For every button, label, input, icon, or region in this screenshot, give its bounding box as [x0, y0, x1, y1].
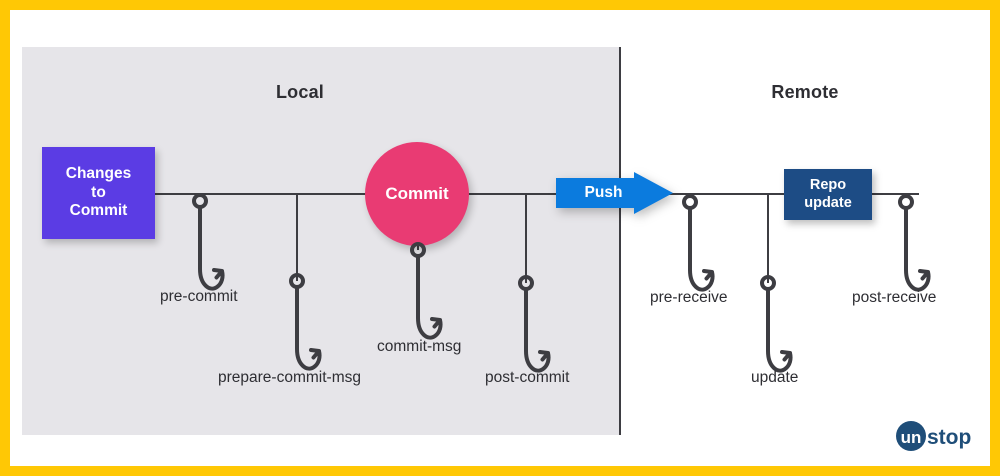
connector-prepare-commit-msg — [296, 193, 298, 281]
hook-label-pre-receive: pre-receive — [650, 289, 728, 307]
section-title-remote: Remote — [620, 82, 990, 103]
hook-label-post-commit: post-commit — [485, 369, 569, 387]
changes-to-commit-box[interactable]: Changes to Commit — [42, 147, 155, 239]
section-title-local: Local — [0, 82, 600, 103]
changes-label-line-2: to — [66, 184, 131, 203]
hook-label-pre-commit: pre-commit — [160, 288, 238, 306]
hook-label-update: update — [751, 369, 798, 387]
frame-border-bottom — [0, 466, 1000, 476]
hook-post-commit-glyph — [510, 275, 556, 383]
repo-update-box[interactable]: Repo update — [784, 169, 872, 220]
hook-label-prepare-commit-msg: prepare-commit-msg — [218, 369, 361, 387]
changes-label-line-1: Changes — [66, 165, 131, 184]
hook-pre-commit-glyph — [184, 193, 230, 301]
hook-prepare-commit-msg[interactable] — [281, 273, 327, 381]
commit-label: Commit — [385, 184, 448, 204]
hook-update[interactable] — [752, 275, 798, 383]
commit-node[interactable]: Commit — [365, 142, 469, 246]
hook-update-glyph — [752, 275, 798, 383]
unstop-logo: un stop — [896, 421, 988, 451]
connector-post-commit — [525, 193, 527, 283]
hook-pre-receive-glyph — [674, 194, 720, 302]
push-arrow-shape — [556, 172, 673, 214]
frame-border-left — [0, 0, 10, 476]
hook-commit-msg[interactable] — [402, 242, 448, 350]
hook-prepare-commit-msg-glyph — [281, 273, 327, 381]
hook-pre-commit[interactable] — [184, 193, 230, 301]
frame-border-top — [0, 0, 1000, 10]
diagram-canvas: Local Remote Changes to Commit Commit Pu… — [0, 0, 1000, 476]
unstop-logo-mark: un stop — [896, 421, 988, 451]
hook-post-receive[interactable] — [890, 194, 936, 302]
changes-label-line-3: Commit — [66, 202, 131, 221]
hook-label-post-receive: post-receive — [852, 289, 936, 307]
hook-post-receive-glyph — [890, 194, 936, 302]
logo-text-un: un — [901, 428, 922, 447]
hook-commit-msg-glyph — [402, 242, 448, 350]
hook-label-commit-msg: commit-msg — [377, 338, 461, 356]
local-remote-divider — [619, 47, 621, 435]
connector-update — [767, 193, 769, 283]
hook-pre-receive[interactable] — [674, 194, 720, 302]
repo-label-line-1: Repo — [804, 177, 852, 194]
hook-post-commit[interactable] — [510, 275, 556, 383]
logo-text-stop: stop — [927, 426, 971, 449]
repo-label-line-2: update — [804, 195, 852, 212]
frame-border-right — [990, 0, 1000, 476]
